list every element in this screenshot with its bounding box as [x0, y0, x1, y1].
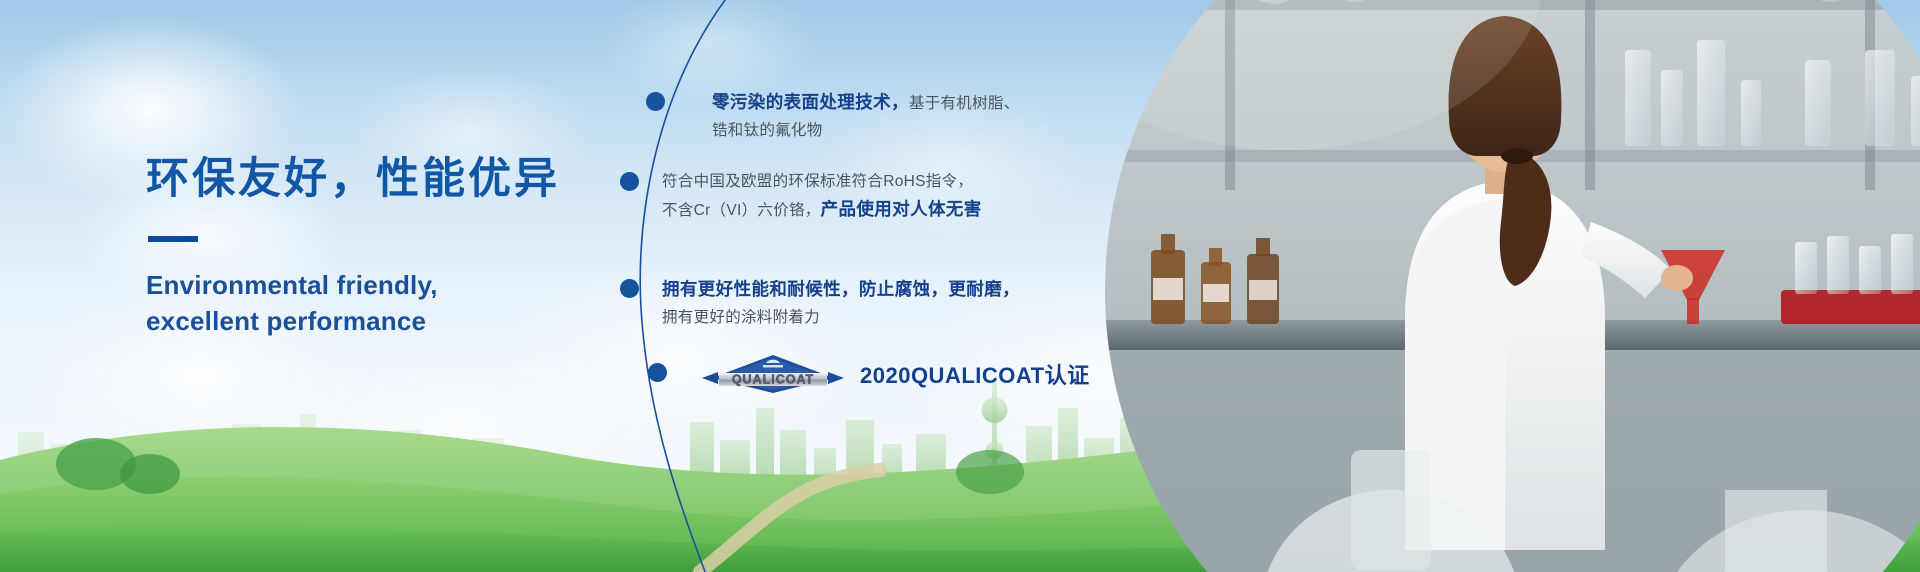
promo-banner: 环保友好，性能优异 Environmental friendly, excell… — [0, 0, 1920, 572]
bullet-item-2: 符合中国及欧盟的环保标准符合RoHS指令， 不含Cr（VI）六价铬，产品使用对人… — [662, 168, 982, 224]
bullet-dot-2 — [620, 172, 639, 191]
qualicoat-logo-icon: QUALICOAT — [700, 352, 846, 396]
bullet-3-line1: 拥有更好性能和耐候性，防止腐蚀，更耐磨， — [662, 279, 1020, 299]
certification-label: 2020QUALICOAT认证 — [860, 358, 1090, 390]
bullet-item-1: 零污染的表面处理技术，基于有机树脂、 锆和钛的氟化物 — [712, 88, 1020, 144]
bullet-2-line1: 符合中国及欧盟的环保标准符合RoHS指令， — [662, 173, 973, 190]
bullet-1-strong: 零污染的表面处理技术， — [712, 92, 909, 112]
feature-list: 零污染的表面处理技术，基于有机树脂、 锆和钛的氟化物 符合中国及欧盟的环保标准符… — [0, 0, 1920, 572]
bullet-dot-1 — [646, 92, 665, 111]
bullet-1-line2: 锆和钛的氟化物 — [712, 122, 823, 139]
bullet-dot-4 — [648, 363, 667, 382]
bullet-dot-3 — [620, 279, 639, 298]
bullet-2-line2-normal: 不含Cr（VI）六价铬， — [662, 202, 821, 219]
certification-row: QUALICOAT 2020QUALICOAT认证 — [700, 352, 1090, 396]
bullet-item-3: 拥有更好性能和耐候性，防止腐蚀，更耐磨， 拥有更好的涂料附着力 — [662, 275, 1020, 331]
bullet-2-line2-strong: 产品使用对人体无害 — [821, 199, 982, 219]
bullet-3-line2: 拥有更好的涂料附着力 — [662, 309, 820, 326]
svg-text:QUALICOAT: QUALICOAT — [732, 373, 814, 387]
bullet-1-normal: 基于有机树脂、 — [909, 95, 1020, 112]
